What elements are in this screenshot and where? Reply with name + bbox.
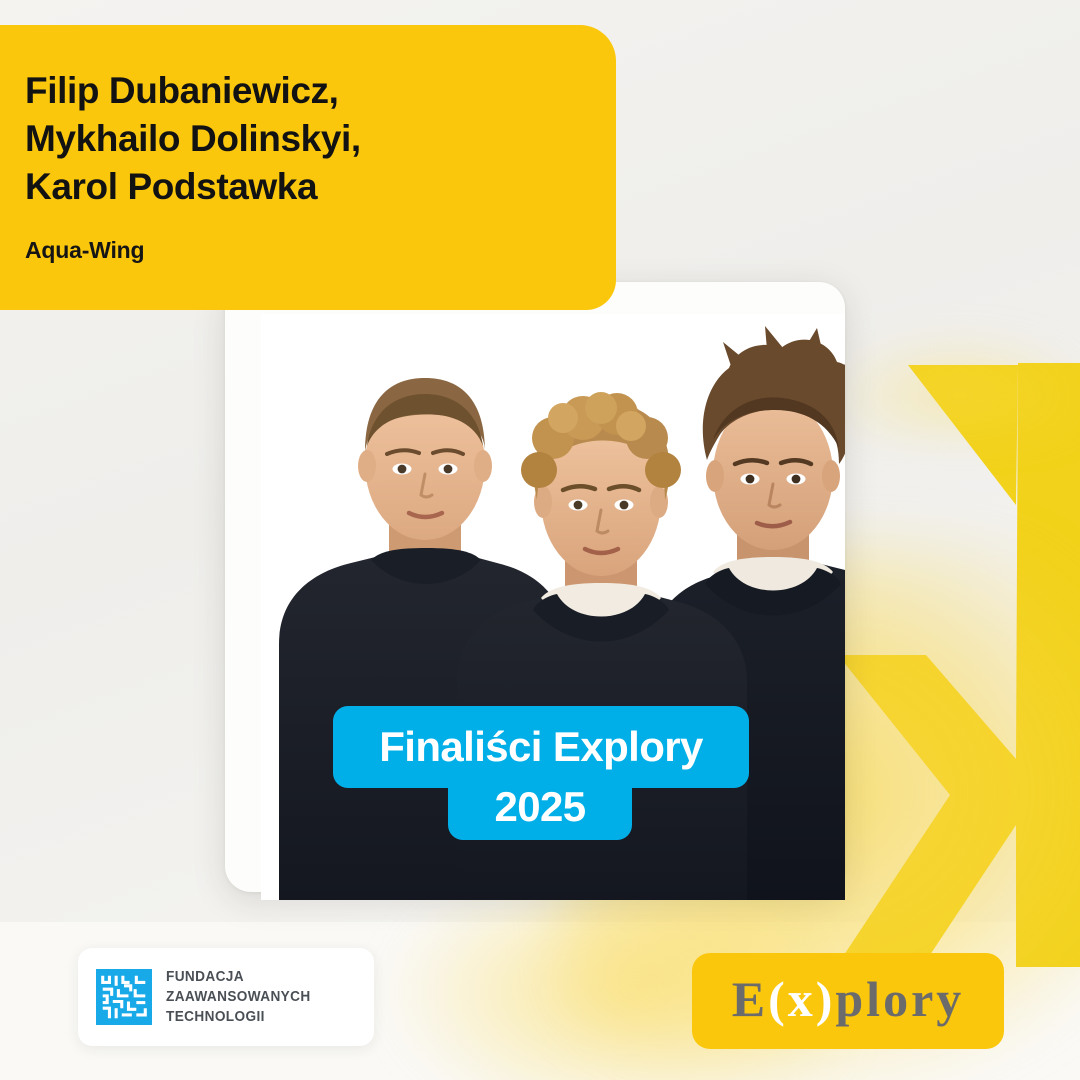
fundacja-logo-plaque: FUNDACJA ZAAWANSOWANYCH TECHNOLOGII bbox=[78, 948, 374, 1046]
explory-logo-close-paren: ) bbox=[816, 971, 836, 1027]
explory-logo-plaque: E(x)plory bbox=[692, 953, 1004, 1049]
finalist-badge-line1-text: Finaliści Explory bbox=[379, 723, 703, 771]
fundacja-logo-text: FUNDACJA ZAAWANSOWANYCH TECHNOLOGII bbox=[166, 967, 311, 1027]
finalist-badge-line2-text: 2025 bbox=[494, 783, 585, 831]
poster-canvas: Filip Dubaniewicz, Mykhailo Dolinskyi, K… bbox=[0, 0, 1080, 1080]
finalist-badge-line1: Finaliści Explory bbox=[333, 706, 749, 788]
explory-logo-prefix: E bbox=[732, 971, 768, 1027]
team-name: Aqua-Wing bbox=[25, 237, 576, 264]
finalist-badge-line2: 2025 bbox=[448, 786, 632, 840]
explory-logo-open-paren: ( bbox=[768, 971, 788, 1027]
explory-x-mark-icon bbox=[830, 355, 1080, 975]
explory-logo-x: x bbox=[788, 971, 816, 1027]
participant-names: Filip Dubaniewicz, Mykhailo Dolinskyi, K… bbox=[25, 67, 576, 211]
fzt-maze-icon bbox=[96, 969, 152, 1025]
explory-logo-suffix: plory bbox=[835, 971, 964, 1027]
header-panel: Filip Dubaniewicz, Mykhailo Dolinskyi, K… bbox=[0, 25, 616, 310]
explory-logo-text: E(x)plory bbox=[732, 970, 965, 1028]
